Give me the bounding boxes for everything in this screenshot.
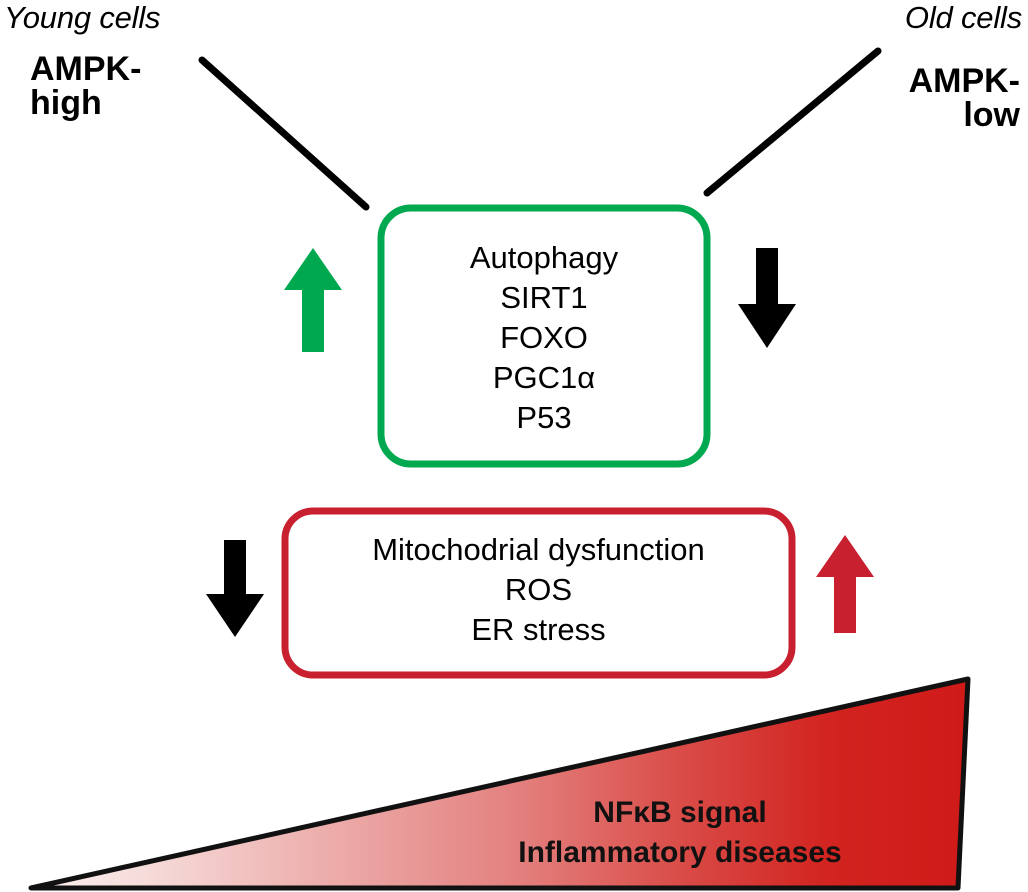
triangle-caption-line2: Inflammatory diseases (410, 833, 950, 873)
green-up-arrow-icon (284, 248, 342, 352)
diagram-artwork (0, 0, 1028, 892)
black-down-arrow-icon-upper (738, 248, 796, 348)
triangle-caption-line1: NFκB signal (410, 793, 950, 833)
triangle-caption: NFκB signal Inflammatory diseases (410, 793, 950, 872)
green-box-item-2: FOXO (378, 318, 710, 358)
red-box-item-0: Mitochodrial dysfunction (282, 530, 795, 570)
green-box-item-3: PGC1α (378, 358, 710, 398)
red-box-text: Mitochodrial dysfunction ROS ER stress (282, 530, 795, 650)
green-box-item-1: SIRT1 (378, 278, 710, 318)
connector-line-young (202, 60, 366, 207)
green-box-item-0: Autophagy (378, 238, 710, 278)
diagram-canvas: Young cells Old cells AMPK- high AMPK- l… (0, 0, 1028, 892)
red-up-arrow-icon (816, 535, 874, 633)
black-down-arrow-icon-lower (206, 540, 264, 637)
red-box-item-2: ER stress (282, 610, 795, 650)
connector-line-old (707, 51, 878, 193)
green-box-text: Autophagy SIRT1 FOXO PGC1α P53 (378, 238, 710, 438)
red-box-item-1: ROS (282, 570, 795, 610)
green-box-item-4: P53 (378, 398, 710, 438)
